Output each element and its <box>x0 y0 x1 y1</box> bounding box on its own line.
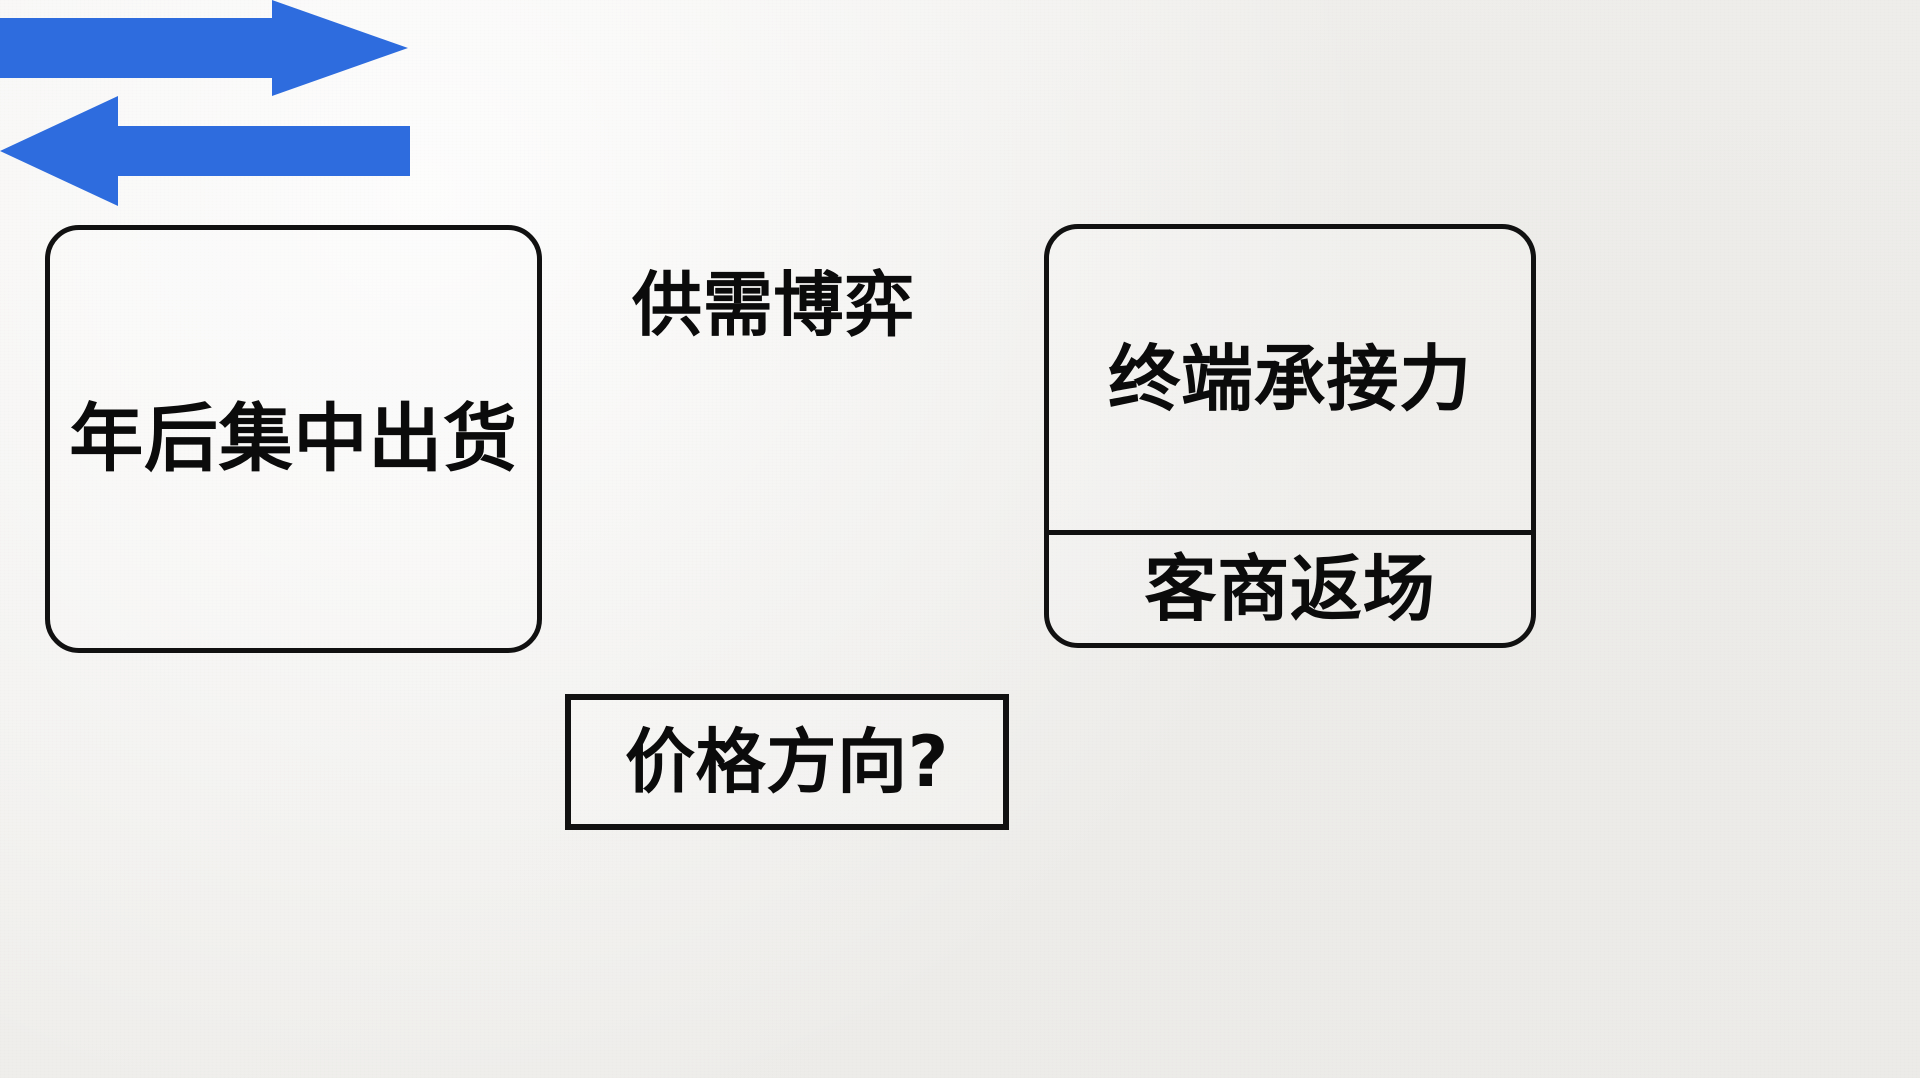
left-arrow-icon <box>0 96 410 206</box>
node-right-demand[interactable]: 终端承接力 客商返场 <box>1044 224 1536 648</box>
node-right-top-cell[interactable]: 终端承接力 <box>1049 229 1531 530</box>
right-arrow <box>0 0 408 96</box>
node-bottom-label: 价格方向? <box>625 727 949 797</box>
node-bottom-question[interactable]: 价格方向? <box>565 694 1009 830</box>
diagram-canvas: 年后集中出货 供需博弈 终端承接力 客商返场 价格方向? <box>0 0 1920 1078</box>
right-arrow-icon <box>0 0 408 96</box>
node-right-bottom-label: 客商返场 <box>1145 553 1436 625</box>
left-arrow <box>0 96 410 206</box>
node-right-bottom-cell[interactable]: 客商返场 <box>1049 535 1531 643</box>
node-right-top-label: 终端承接力 <box>1108 343 1472 415</box>
node-left-shipment[interactable]: 年后集中出货 <box>45 225 542 653</box>
node-left-label: 年后集中出货 <box>69 402 517 476</box>
center-relation-label: 供需博弈 <box>632 270 915 340</box>
